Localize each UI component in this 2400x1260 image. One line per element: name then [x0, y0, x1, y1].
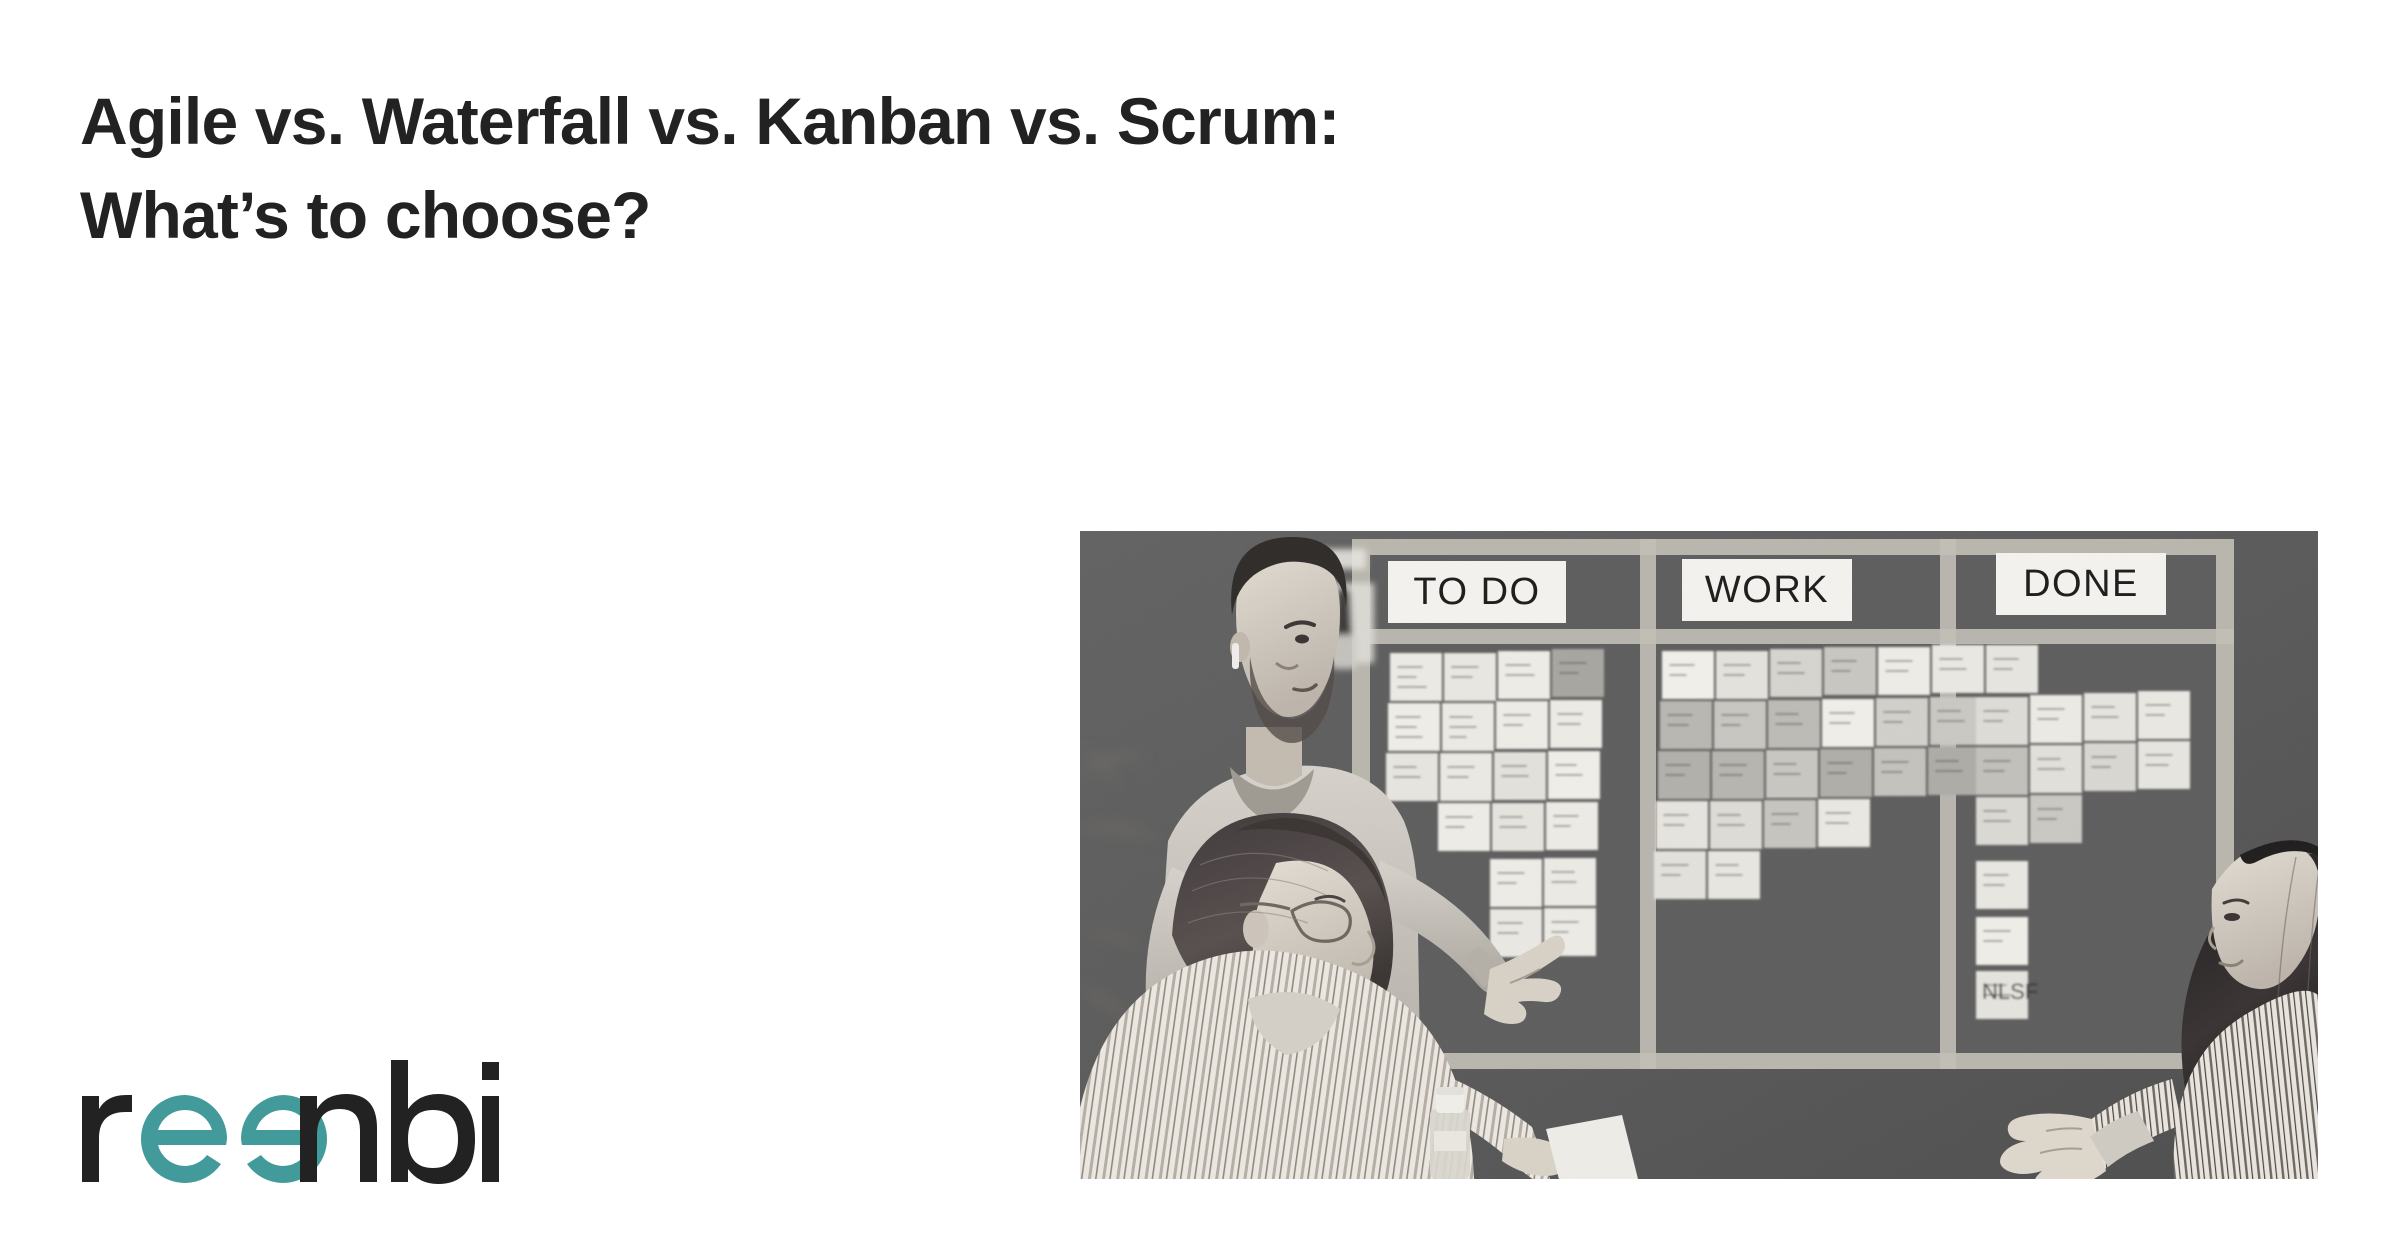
- hero-photo: TO DO WORK DONE: [1080, 531, 2318, 1179]
- logo-letter-n: [300, 1094, 377, 1182]
- page-title-line-1: Agile vs. Waterfall vs. Kanban vs. Scrum…: [80, 74, 1980, 168]
- logo-letter-r: [82, 1095, 132, 1182]
- logo-letter-i: [482, 1062, 499, 1182]
- page-title-line-2: What’s to choose?: [80, 168, 1980, 262]
- logo-letter-e-teal-1: [141, 1095, 227, 1183]
- photo-grain: [1080, 531, 2318, 1179]
- logo-letter-b: [391, 1060, 475, 1184]
- reenbit-logo[interactable]: [78, 1060, 508, 1184]
- page-title: Agile vs. Waterfall vs. Kanban vs. Scrum…: [80, 74, 1980, 262]
